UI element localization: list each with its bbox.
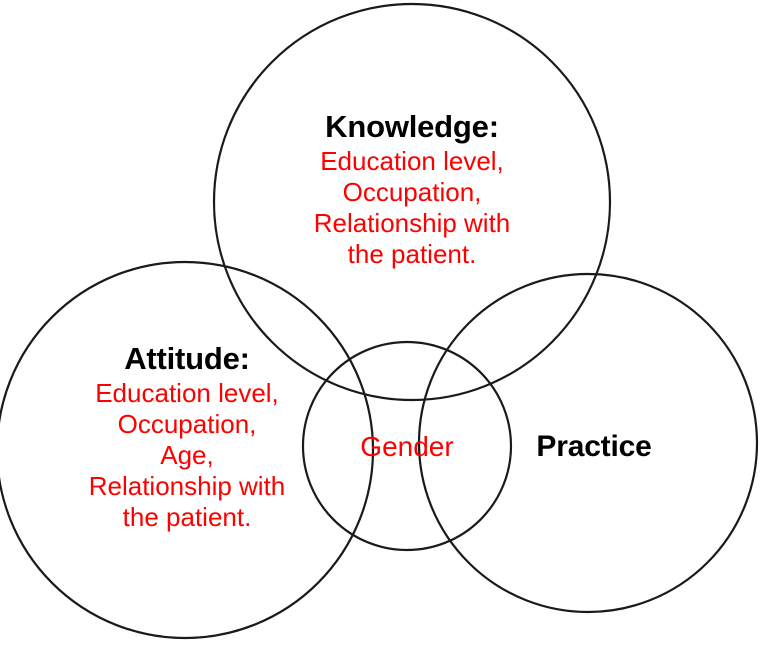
knowledge-line-4: the patient.: [262, 239, 562, 270]
attitude-line-3: Age,: [37, 440, 337, 471]
knowledge-line-1: Education level,: [262, 146, 562, 177]
knowledge-heading: Knowledge:: [262, 108, 562, 146]
attitude-line-4: Relationship with: [37, 471, 337, 502]
attitude-heading: Attitude:: [37, 340, 337, 378]
venn-circles-group: [0, 0, 761, 646]
attitude-line-2: Occupation,: [37, 409, 337, 440]
venn-diagram-canvas: Knowledge: Education level, Occupation, …: [0, 0, 761, 646]
attitude-line-1: Education level,: [37, 378, 337, 409]
knowledge-label-block: Knowledge: Education level, Occupation, …: [262, 108, 562, 270]
practice-heading: Practice: [494, 429, 694, 465]
knowledge-line-3: Relationship with: [262, 208, 562, 239]
practice-label-block: Practice: [494, 429, 694, 465]
gender-label-block: Gender: [307, 430, 507, 464]
gender-label: Gender: [307, 430, 507, 464]
attitude-label-block: Attitude: Education level, Occupation, A…: [37, 340, 337, 533]
knowledge-line-2: Occupation,: [262, 177, 562, 208]
attitude-line-5: the patient.: [37, 502, 337, 533]
